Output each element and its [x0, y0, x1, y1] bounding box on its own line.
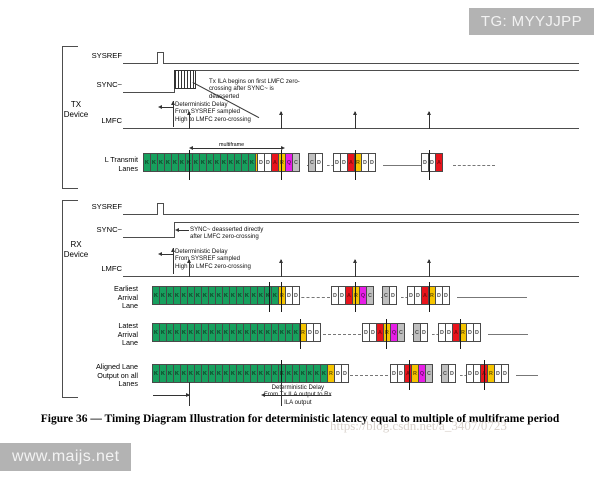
lane-cell-d: D: [368, 153, 376, 172]
rx-brace-bottom: [62, 397, 78, 398]
rx-earliest-marker-2: [281, 282, 282, 312]
tx-lmfc-tick-4-arrow: [427, 111, 431, 115]
lane-cell-d: D: [313, 323, 321, 342]
rx-ila-delay-line-left: [153, 395, 189, 396]
lane-cell-c: C: [292, 153, 300, 172]
lane-cell-d: D: [389, 286, 397, 305]
rx-earliest-marker-4: [429, 282, 430, 312]
tx-det-delay-arrowhead-up: [171, 101, 175, 105]
rx-latest-marker-2: [386, 319, 387, 349]
rx-latest-conn-1: [488, 334, 528, 335]
rx-sync-note-line1: SYNC~ deasserted directly: [190, 226, 263, 233]
rx-earliest-lane-label: Earliest Arrival Lane: [78, 285, 138, 311]
rx-device-brace: [62, 200, 63, 397]
rx-device-label: RX Device: [56, 240, 96, 260]
rx-aligned-lane-label-line3: Lanes: [118, 379, 138, 388]
lane-cell-d: D: [420, 323, 428, 342]
rx-sysref-low-right: [163, 214, 579, 215]
rx-brace-top: [62, 200, 78, 201]
tx-lane-group-4: DDA: [421, 153, 443, 172]
rx-earliest-marker-1: [269, 282, 270, 312]
rx-earliest-lane-group-1: DDARQC: [331, 286, 374, 305]
rx-sysref-low-left: [123, 214, 157, 215]
tx-det-delay-line1: Deterministic Delay: [175, 101, 228, 108]
tx-lane-group-1: DDARQC: [257, 153, 300, 172]
rx-lmfc-label: LMFC: [74, 265, 122, 274]
ghost-watermark: https://blog.csdn.net/a_3407/0723: [330, 418, 507, 434]
rx-ila-delay-right-tick: [281, 382, 282, 406]
tx-lane-marker-1: [189, 150, 190, 180]
rx-device-label-line1: RX: [70, 240, 81, 249]
lane-cell-d: D: [473, 323, 481, 342]
tx-sync-low-left: [123, 92, 174, 93]
tx-brace-top: [62, 46, 78, 47]
tx-lane-group-2: CD: [308, 153, 323, 172]
tx-lmfc-label: LMFC: [74, 117, 122, 126]
rx-earliest-lane-group-2: CD: [382, 286, 397, 305]
rx-sync-low-left: [123, 237, 174, 238]
rx-earliest-marker-3: [355, 282, 356, 312]
tx-det-delay-line2: From SYSREF sampled: [175, 108, 240, 115]
rx-ila-delay-arrowhead-right-inner: [186, 393, 190, 397]
tx-sysref-low-left: [123, 63, 157, 64]
multiframe-label: multiframe: [219, 141, 244, 150]
rx-sync-label: SYNC~: [74, 226, 122, 235]
tx-lane-dash-4: [453, 165, 495, 166]
rx-ila-delay-arrowhead-left-inner: [261, 393, 265, 397]
tx-sysref-rise: [157, 52, 158, 64]
rx-det-delay-line3: High to LMFC zero-crossing: [175, 263, 251, 270]
tx-lane-label-line2: Lanes: [118, 164, 138, 173]
rx-aligned-lane-group-3: DDARDD: [466, 364, 509, 383]
rx-det-delay-arrowhead-up: [171, 248, 175, 252]
rx-lmfc-tick-1-arrow: [187, 259, 191, 263]
lane-cell-d: D: [341, 364, 349, 383]
rx-aligned-lane-group-1: DDARQC: [390, 364, 433, 383]
tx-ila-note-line2: crossing after SYNC~ is: [209, 85, 274, 92]
rx-ila-delay-line-far-right: [281, 395, 331, 396]
rx-det-delay-line1: Deterministic Delay: [175, 248, 228, 255]
rx-ila-delay-line1: Deterministic Delay: [272, 384, 325, 391]
rx-aligned-lane-group-0: KKKKKKKKKKKKKKKKKKKKKKKKKRDD: [152, 364, 349, 383]
tx-lmfc-tick-1-arrow: [187, 111, 191, 115]
top-right-watermark: TG: MYYJJPP: [469, 8, 594, 35]
rx-latest-lane-group-0: KKKKKKKKKKKKKKKKKKKKKRDD: [152, 323, 321, 342]
tx-sysref-label: SYSREF: [74, 52, 122, 61]
tx-lmfc-baseline: [123, 128, 579, 129]
rx-det-delay-line2: From SYSREF sampled: [175, 255, 240, 262]
rx-aligned-conn-1: [516, 375, 538, 376]
tx-sync-label: SYNC~: [74, 81, 122, 90]
rx-latest-lane-group-1: DDARQC: [362, 323, 405, 342]
rx-earliest-lane-group-0: KKKKKKKKKKKKKKKKKKRDD: [152, 286, 300, 305]
rx-latest-lane-label: Latest Arrival Lane: [78, 322, 138, 348]
rx-aligned-marker-3: [484, 360, 485, 390]
lane-cell-d: D: [501, 364, 509, 383]
timing-diagram-figure: TX Device SYSREF SYNC~ Tx ILA begins on …: [0, 0, 600, 480]
lane-cell-d: D: [448, 364, 456, 383]
tx-det-delay-arrowhead-left: [158, 105, 162, 109]
lane-cell-c: C: [397, 323, 405, 342]
tx-lane-conn-1: [383, 165, 423, 166]
rx-earliest-conn-1: [457, 297, 527, 298]
tx-brace-bottom: [62, 188, 78, 189]
rx-ila-delay-line3: ILA output: [284, 399, 311, 406]
tx-device-label-line1: TX: [71, 100, 81, 109]
tx-det-delay-arrow-line: [160, 107, 174, 108]
tx-lane-marker-3: [355, 150, 356, 180]
tx-lane-label: L Transmit Lanes: [78, 156, 138, 173]
rx-device-label-line2: Device: [64, 250, 88, 259]
rx-ila-delay-line-right: [263, 395, 281, 396]
rx-latest-marker-1: [300, 319, 301, 349]
rx-lmfc-tick-3-arrow: [353, 259, 357, 263]
rx-sync-high-right: [174, 222, 579, 223]
rx-det-delay-arrowhead-left: [158, 252, 162, 256]
lane-cell-d: D: [442, 286, 450, 305]
rx-lmfc-baseline: [123, 276, 579, 277]
bottom-left-watermark: www.maijs.net: [0, 443, 131, 471]
tx-lmfc-tick-2-arrow: [279, 111, 283, 115]
rx-aligned-lane-group-2: CD: [441, 364, 456, 383]
rx-sync-note-line2: after LMFC zero-crossing: [190, 233, 259, 240]
rx-latest-lane-label-line3: Lane: [122, 338, 138, 347]
lane-cell-d: D: [292, 286, 300, 305]
rx-sysref-label: SYSREF: [74, 203, 122, 212]
tx-lmfc-tick-3-arrow: [353, 111, 357, 115]
rx-sync-note-arrowhead: [175, 228, 179, 232]
tx-lane-marker-4: [429, 150, 430, 180]
lane-cell-a: A: [435, 153, 443, 172]
rx-aligned-marker-2: [409, 360, 410, 390]
tx-ila-note-line1: Tx ILA begins on first LMFC zero-: [209, 78, 300, 85]
tx-sync-high-right: [194, 70, 579, 71]
rx-lmfc-tick-2-arrow: [279, 259, 283, 263]
rx-earliest-lane-label-line3: Lane: [122, 301, 138, 310]
tx-lane-marker-2: [281, 150, 282, 180]
tx-sync-burst: [174, 70, 196, 89]
rx-latest-lane-group-2: CD: [413, 323, 428, 342]
tx-sysref-low-right: [163, 63, 579, 64]
lane-cell-c: C: [366, 286, 374, 305]
tx-det-delay-line3: High to LMFC zero-crossing: [175, 116, 251, 123]
rx-sync-note: SYNC~ deasserted directly after LMFC zer…: [190, 226, 263, 241]
rx-det-delay-arrow-line: [160, 254, 174, 255]
lane-cell-c: C: [425, 364, 433, 383]
rx-sysref-rise: [157, 203, 158, 215]
rx-lmfc-tick-4-arrow: [427, 259, 431, 263]
rx-latest-marker-3: [460, 319, 461, 349]
lane-cell-d: D: [315, 153, 323, 172]
rx-aligned-lane-label: Aligned Lane Output on all Lanes: [66, 363, 138, 389]
